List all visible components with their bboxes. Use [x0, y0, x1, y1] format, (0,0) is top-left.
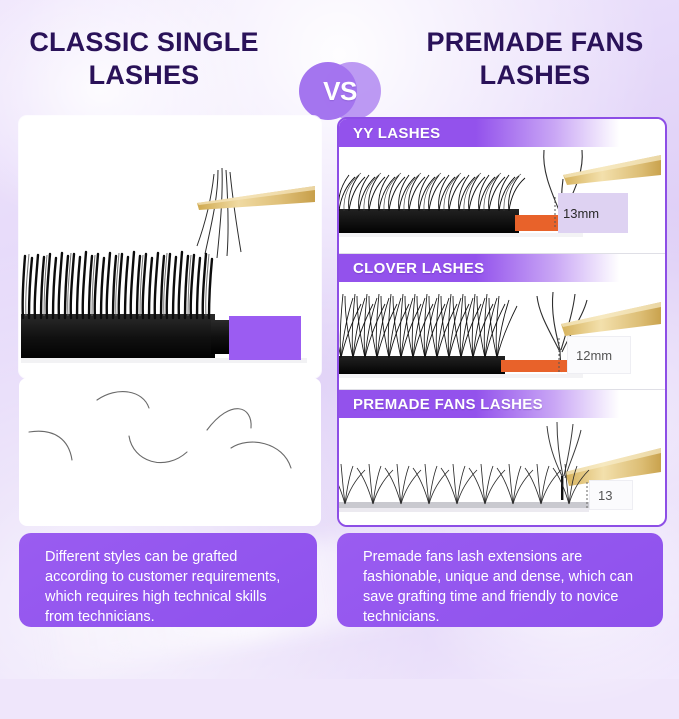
clover-lashes-label: CLOVER LASHES	[339, 260, 484, 277]
yy-lashes-measurement: 13mm	[558, 193, 628, 233]
section-premade-fans-lashes: 13 PREMADE FANS LASHES	[339, 390, 665, 525]
right-column-caption: Premade fans lash extensions are fashion…	[337, 533, 663, 627]
section-clover-lashes: 12mm CLOVER LASHES	[339, 254, 665, 389]
premade-fans-measurement: 13	[589, 480, 633, 510]
classic-lash-tray-panel	[19, 116, 321, 378]
left-column-title: CLASSIC SINGLE LASHES	[9, 26, 279, 92]
yy-lashes-label: YY LASHES	[339, 125, 440, 142]
yy-lashes-banner: YY LASHES	[339, 119, 665, 147]
clover-lashes-measurement: 12mm	[567, 336, 631, 374]
premade-fans-panel: 13mm YY LASHES	[337, 117, 667, 527]
vs-label: VS	[299, 62, 381, 120]
loose-lashes-panel	[19, 378, 321, 526]
loose-lashes-illustration	[21, 380, 315, 520]
header: CLASSIC SINGLE LASHES VS PREMADE FANS LA…	[0, 26, 679, 106]
vs-badge: VS	[299, 62, 381, 120]
section-yy-lashes: 13mm YY LASHES	[339, 119, 665, 253]
premade-fans-label: PREMADE FANS LASHES	[339, 396, 543, 413]
premade-fans-banner: PREMADE FANS LASHES	[339, 390, 665, 418]
right-column-title: PREMADE FANS LASHES	[400, 26, 670, 92]
left-column-caption: Different styles can be grafted accordin…	[19, 533, 317, 627]
classic-lash-tray-illustration	[21, 118, 315, 372]
clover-lashes-banner: CLOVER LASHES	[339, 254, 665, 282]
page-background: CLASSIC SINGLE LASHES VS PREMADE FANS LA…	[0, 0, 679, 679]
